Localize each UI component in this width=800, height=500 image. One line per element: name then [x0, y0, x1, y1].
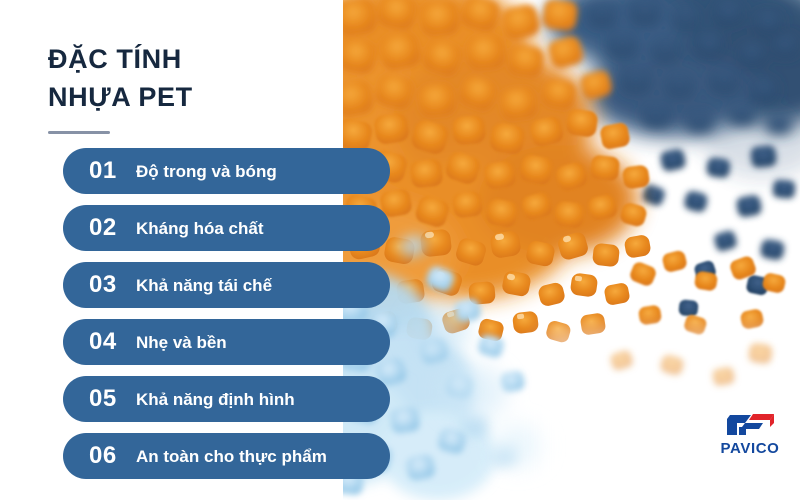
list-item[interactable]: 04 Nhẹ và bền	[63, 319, 390, 365]
list-item[interactable]: 05 Khả năng định hình	[63, 376, 390, 422]
list-item-number: 05	[89, 387, 127, 411]
list-item[interactable]: 06 An toàn cho thực phẩm	[63, 433, 390, 479]
list-item-number: 06	[89, 444, 127, 468]
title-line-1: ĐẶC TÍNH	[48, 40, 348, 78]
infographic-canvas: ĐẶC TÍNH NHỰA PET 01 Độ trong và bóng 02…	[0, 0, 800, 500]
pavico-logo[interactable]: PAVICO	[712, 412, 788, 464]
page-title: ĐẶC TÍNH NHỰA PET	[48, 40, 348, 116]
list-item-number: 02	[89, 216, 127, 240]
list-item[interactable]: 02 Kháng hóa chất	[63, 205, 390, 251]
list-item-number: 03	[89, 273, 127, 297]
list-item-label: An toàn cho thực phẩm	[136, 448, 327, 465]
list-item-number: 04	[89, 330, 127, 354]
list-item-label: Kháng hóa chất	[136, 220, 264, 237]
properties-list: 01 Độ trong và bóng 02 Kháng hóa chất 03…	[63, 148, 393, 490]
list-item-label: Khả năng định hình	[136, 391, 295, 408]
list-item[interactable]: 01 Độ trong và bóng	[63, 148, 390, 194]
title-divider	[48, 131, 110, 134]
title-line-2: NHỰA PET	[48, 78, 348, 116]
list-item-label: Khả năng tái chế	[136, 277, 272, 294]
list-item-label: Độ trong và bóng	[136, 163, 277, 180]
list-item[interactable]: 03 Khả năng tái chế	[63, 262, 390, 308]
pavico-arrow-mark-icon	[722, 412, 778, 438]
list-item-label: Nhẹ và bền	[136, 334, 227, 351]
pavico-logo-text: PAVICO	[712, 441, 788, 457]
list-item-number: 01	[89, 159, 127, 183]
